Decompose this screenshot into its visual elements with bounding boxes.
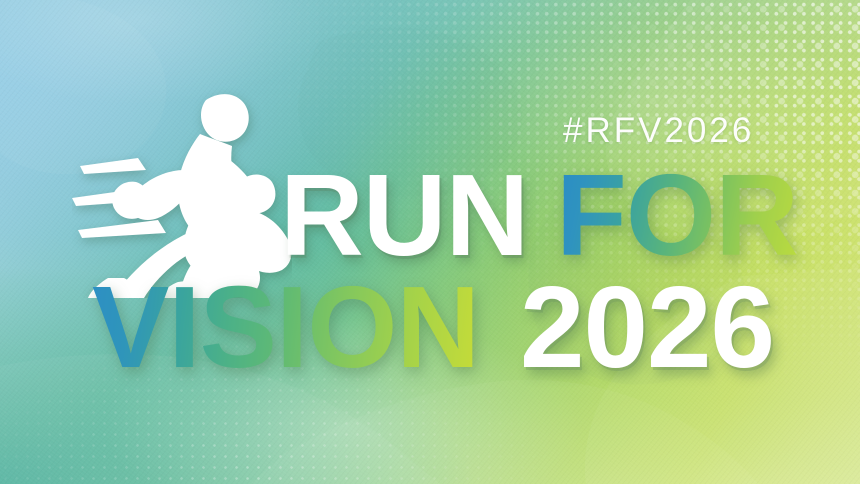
event-hashtag: #RFV2026	[563, 113, 754, 148]
headline-year: 2026	[520, 278, 774, 378]
headline-for: FOR	[556, 166, 798, 266]
headline-run: RUN	[280, 166, 528, 266]
headline-vision: VISION	[92, 278, 479, 378]
event-banner: #RFV2026 RUN FOR VISION 2026	[0, 0, 860, 484]
